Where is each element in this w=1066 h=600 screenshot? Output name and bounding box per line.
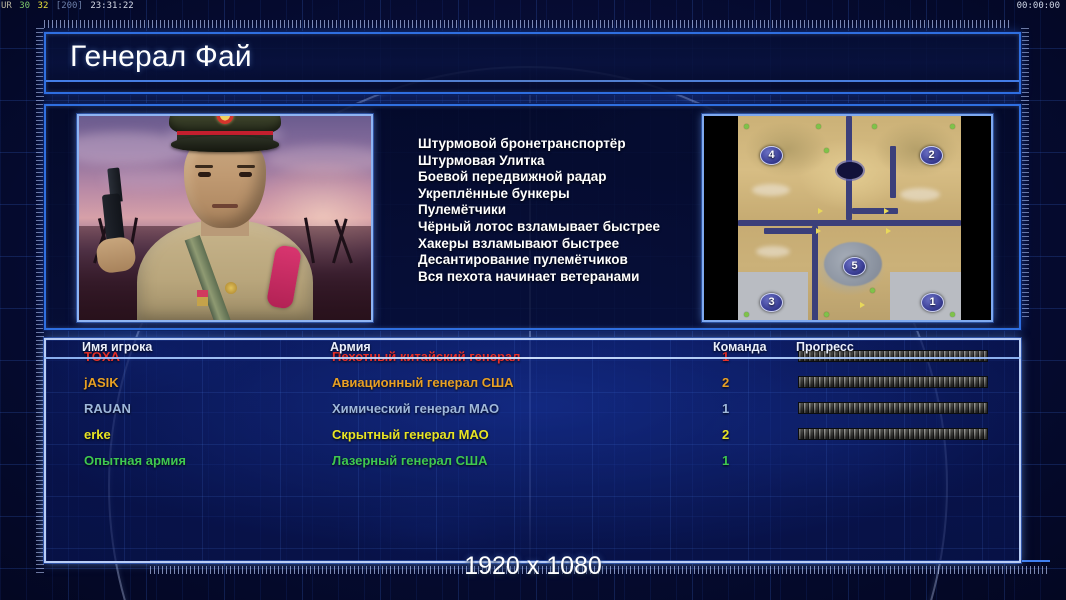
map-tree-icon [824, 312, 829, 317]
map-road [852, 208, 898, 214]
player-team: 1 [722, 396, 729, 422]
medal-icon [197, 290, 208, 306]
sash-icon [185, 235, 233, 322]
player-team: 2 [722, 370, 729, 396]
column-header-progress: Прогресс [796, 340, 854, 354]
medal-icon [225, 282, 237, 294]
ability-item: Чёрный лотос взламывает быстрее [418, 219, 718, 236]
player-army: Лазерный генерал США [332, 448, 487, 474]
map-road [764, 228, 814, 234]
player-name: erke [84, 422, 111, 448]
column-header-army: Армия [330, 340, 371, 354]
table-row[interactable]: RAUANХимический генерал МАО1 [46, 396, 1019, 422]
status-value-bracket: [200] [55, 1, 84, 11]
title-underline [46, 80, 1019, 82]
player-team: 1 [722, 448, 729, 474]
player-army: Химический генерал МАО [332, 396, 499, 422]
map-objective-icon [884, 208, 889, 214]
map-tree-icon [950, 124, 955, 129]
map-objective-icon [816, 228, 821, 234]
page-title: Генерал Фай [70, 40, 252, 74]
general-abilities-list: Штурмовой бронетранспортёр Штурмовая Ули… [418, 136, 718, 285]
status-value-a: 30 [18, 1, 31, 11]
player-army: Скрытный генерал МАО [332, 422, 489, 448]
status-clock: 23:31:22 [89, 1, 134, 11]
ruler-top-icon [44, 20, 1009, 28]
map-cloud [756, 246, 790, 257]
player-list-panel: TOXAПехотный китайский генерал1jASIKАвиа… [44, 338, 1021, 563]
ruler-left-icon [36, 28, 44, 573]
ability-item: Пулемётчики [418, 202, 718, 219]
map-road [738, 220, 961, 226]
ability-item: Боевой передвижной радар [418, 169, 718, 186]
map-cloud [900, 188, 940, 201]
player-name: Опытная армия [84, 448, 186, 474]
map-tree-icon [744, 312, 749, 317]
ruler-right-icon [1021, 28, 1029, 318]
ability-item: Укреплённые бункеры [418, 186, 718, 203]
map-road [890, 146, 896, 198]
top-status-bar: UR 30 32 [200] 23:31:22 [0, 0, 1066, 13]
map-road [812, 226, 818, 322]
map-objective-icon [886, 228, 891, 234]
ability-item: Хакеры взламывают быстрее [418, 236, 718, 253]
game-loading-screen: UR 30 32 [200] 23:31:22 00:00:00 Генерал… [0, 0, 1066, 600]
portrait-artwork [79, 116, 371, 320]
eyebrow [195, 165, 213, 168]
table-row[interactable]: erkeСкрытный генерал МАО2 [46, 422, 1019, 448]
resolution-caption: 1920 x 1080 [0, 552, 1066, 581]
ability-item: Десантирование пулемётчиков [418, 252, 718, 269]
map-objective-icon [818, 208, 823, 214]
column-header-team: Команда [713, 340, 767, 354]
map-tree-icon [816, 124, 821, 129]
mouth [212, 204, 238, 208]
ability-item: Вся пехота начинает ветеранами [418, 269, 718, 286]
eye [198, 172, 211, 177]
map-cloud [752, 184, 790, 196]
map-start-position-3: 3 [760, 293, 783, 312]
general-title-panel: Генерал Фай [44, 32, 1021, 94]
player-name: jASIK [84, 370, 119, 396]
status-value-b: 32 [37, 1, 50, 11]
map-preview: 42531 [702, 114, 993, 322]
map-tree-icon [824, 148, 829, 153]
epaulette-icon [266, 244, 302, 310]
map-tree-icon [950, 312, 955, 317]
player-army: Авиационный генерал США [332, 370, 514, 396]
ability-item: Штурмовой бронетранспортёр [418, 136, 718, 153]
column-header-player-name: Имя игрока [82, 340, 152, 354]
status-label-ur: UR [0, 1, 13, 11]
general-info-panel: Штурмовой бронетранспортёр Штурмовая Ули… [44, 104, 1021, 330]
player-progress-bar [798, 376, 988, 388]
table-header-rule [44, 357, 1021, 359]
general-portrait [77, 114, 373, 322]
map-objective-icon [860, 302, 865, 308]
table-row[interactable]: jASIKАвиационный генерал США2 [46, 370, 1019, 396]
eye [239, 172, 252, 177]
player-progress-bar [798, 428, 988, 440]
map-start-position-4: 4 [760, 146, 783, 165]
map-start-position-1: 1 [921, 293, 944, 312]
map-start-position-5: 5 [843, 257, 866, 276]
player-progress-bar [798, 402, 988, 414]
map-tree-icon [744, 124, 749, 129]
table-row[interactable]: Опытная армияЛазерный генерал США1 [46, 448, 1019, 474]
player-name: RAUAN [84, 396, 131, 422]
eyebrow [237, 165, 255, 168]
map-tree-icon [872, 124, 877, 129]
ability-item: Штурмовая Улитка [418, 153, 718, 170]
map-lake [837, 162, 863, 179]
map-start-position-2: 2 [920, 146, 943, 165]
map-tree-icon [870, 288, 875, 293]
player-team: 2 [722, 422, 729, 448]
cap-brim [171, 136, 279, 152]
